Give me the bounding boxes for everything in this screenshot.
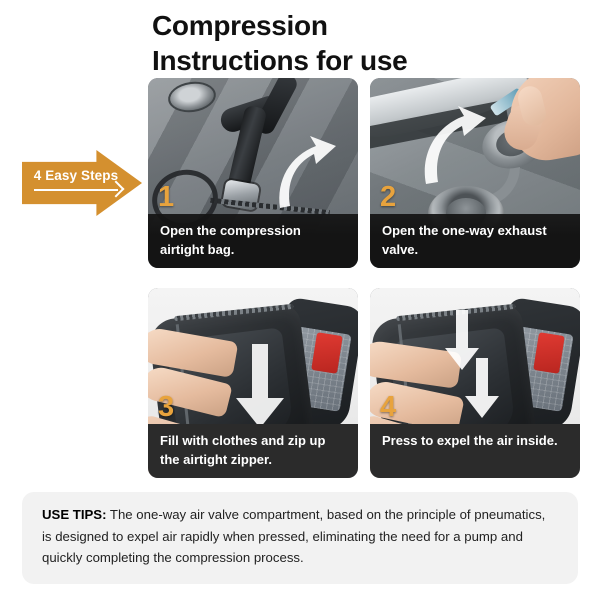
- step-card-4: 4 Press to expel the air inside.: [370, 288, 580, 478]
- step-caption-4: Press to expel the air inside.: [370, 424, 580, 478]
- title-line-2: Instructions for use: [152, 43, 572, 78]
- step-number-4: 4: [380, 393, 396, 422]
- down-arrow-icon: [464, 358, 500, 420]
- step-card-3: 3 Fill with clothes and zip up the airti…: [148, 288, 358, 478]
- easy-steps-label: 4 Easy Steps: [30, 168, 122, 183]
- right-arrow-icon: [22, 150, 142, 216]
- use-tips-box: USE TIPS: The one-way air valve compartm…: [22, 492, 578, 584]
- use-tips-label: USE TIPS:: [42, 507, 106, 522]
- step-card-1: 1 Open the compression airtight bag.: [148, 78, 358, 268]
- step-card-2: 2 Open the one-way exhaust valve.: [370, 78, 580, 268]
- step-caption-2: Open the one-way exhaust valve.: [370, 214, 580, 268]
- step-number-1: 1: [158, 183, 174, 212]
- infographic-page: Compression Instructions for use 4 Easy …: [0, 0, 600, 600]
- step-caption-3: Fill with clothes and zip up the airtigh…: [148, 424, 358, 478]
- use-tips-text: The one-way air valve compartment, based…: [42, 507, 545, 565]
- step-number-2: 2: [380, 183, 396, 212]
- easy-steps-badge: 4 Easy Steps: [22, 150, 142, 216]
- step-number-3: 3: [158, 393, 174, 422]
- title-line-1: Compression: [152, 10, 328, 41]
- curved-up-arrow-icon: [272, 130, 340, 210]
- step-caption-1: Open the compression airtight bag.: [148, 214, 358, 268]
- page-title: Compression Instructions for use: [152, 8, 572, 78]
- down-arrow-icon: [234, 344, 286, 430]
- badge-underline: [34, 189, 118, 191]
- curved-up-arrow-icon: [416, 102, 488, 186]
